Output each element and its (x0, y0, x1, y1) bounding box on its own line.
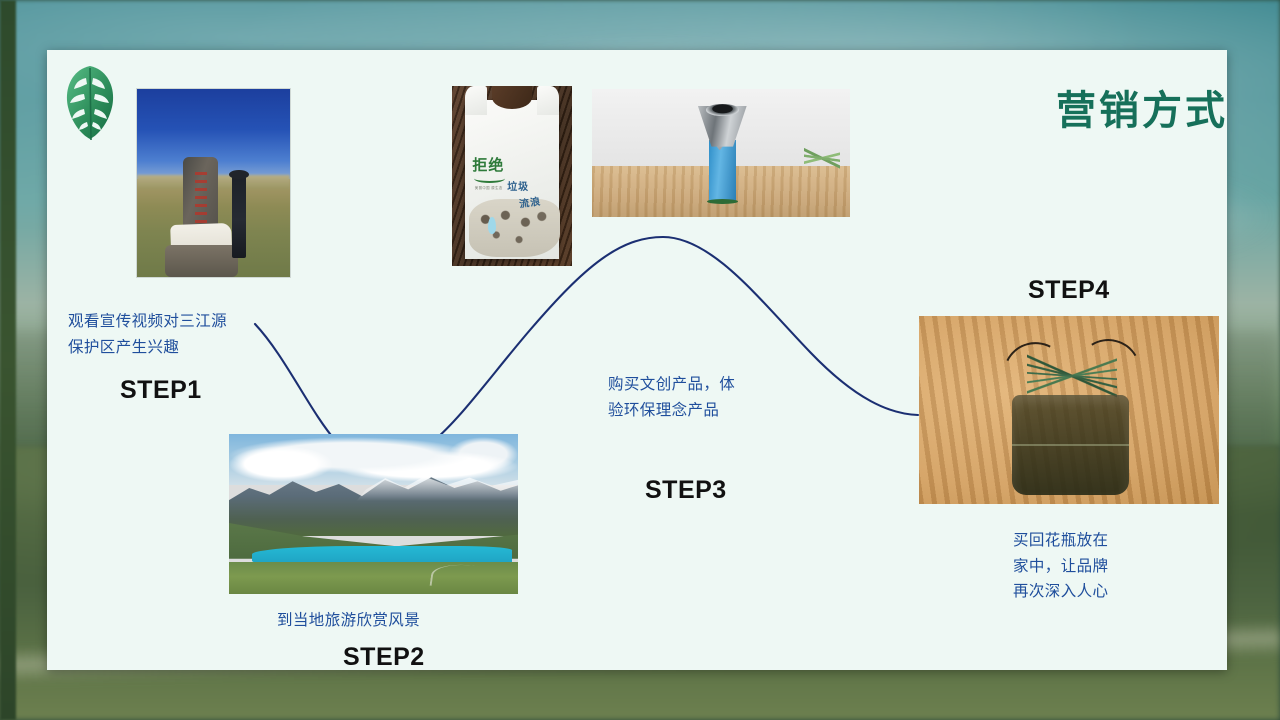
photo-vase-blue-body (709, 140, 736, 201)
step2-image-mountain-lake[interactable] (229, 434, 518, 594)
photo-water-line (1012, 444, 1129, 446)
photo-snow-leopard (469, 199, 560, 257)
photo-side-plant (804, 140, 840, 176)
bag-text-main: 拒绝 (472, 154, 504, 175)
step3-image-vase-product[interactable] (592, 89, 850, 217)
photo-clouds (229, 437, 518, 482)
step4-description: 买回花瓶放在 家中，让品牌 再次深入人心 (1013, 528, 1153, 605)
background-left-edge (0, 0, 16, 720)
page-title: 营销方式 (1056, 78, 1228, 136)
step2-label: STEP2 (343, 643, 425, 672)
photo-water-drop (488, 217, 496, 233)
photo-vase-rim (706, 104, 740, 116)
photo-bag-handle-right (537, 86, 559, 115)
photo-monument-inscription (195, 172, 207, 225)
bag-text-third: 流浪 (518, 193, 542, 211)
photo-rocks (165, 245, 238, 277)
step4-image-glass-vase[interactable] (919, 316, 1219, 504)
step1-label: STEP1 (120, 376, 202, 405)
bag-text-tiny: 美丽中国 原生态 (475, 185, 503, 190)
step4-label: STEP4 (1028, 276, 1110, 305)
photo-bag-handle-left (465, 86, 487, 115)
product-image-plastic-bag[interactable]: 拒绝 美丽中国 原生态 垃圾 流浪 (452, 86, 572, 266)
monstera-leaf-icon (62, 62, 118, 142)
photo-person (232, 174, 246, 259)
bag-text-second: 垃圾 (507, 178, 529, 193)
step1-image-monument[interactable] (136, 88, 291, 278)
step3-label: STEP3 (645, 476, 727, 505)
step3-description: 购买文创产品，体 验环保理念产品 (608, 372, 788, 423)
step2-description: 到当地旅游欣赏风景 (277, 608, 507, 634)
photo-person-hat (229, 170, 249, 179)
step1-description: 观看宣传视频对三江源 保护区产生兴趣 (68, 309, 278, 360)
